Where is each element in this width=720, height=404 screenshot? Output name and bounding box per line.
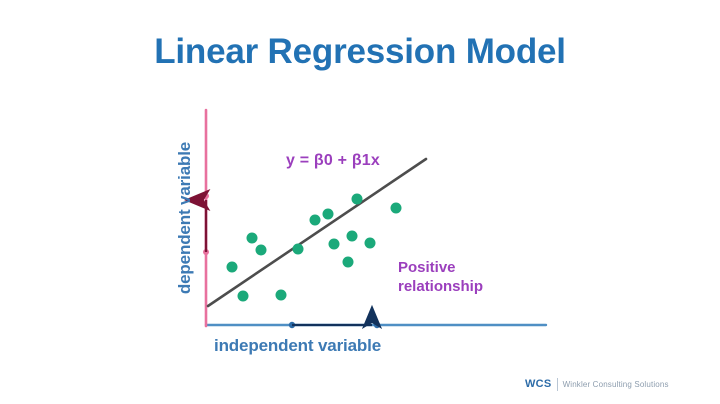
scatter-point <box>247 233 258 244</box>
relationship-note-line2: relationship <box>398 277 483 296</box>
y-axis-label-text: dependent variable <box>175 141 195 293</box>
slide-canvas: Linear Regression Model <box>0 0 720 404</box>
regression-line <box>208 159 426 306</box>
scatter-points <box>227 194 402 302</box>
scatter-point <box>365 238 376 249</box>
regression-equation-label: y = β0 + β1x <box>286 152 380 170</box>
scatter-point <box>227 262 238 273</box>
relationship-note-line1: Positive <box>398 258 483 277</box>
brand-logo: WCS Winkler Consulting Solutions <box>525 376 669 392</box>
scatter-point <box>310 215 321 226</box>
scatter-point <box>276 290 287 301</box>
y-axis-label: dependent variable <box>174 110 196 325</box>
scatter-point <box>256 245 267 256</box>
scatter-point <box>323 209 334 220</box>
scatter-point <box>352 194 363 205</box>
logo-mark: WCS <box>525 378 552 390</box>
logo-divider <box>557 378 558 391</box>
x-axis-label: independent variable <box>214 336 381 356</box>
relationship-note: Positive relationship <box>398 258 483 296</box>
regression-chart: dependent variable independent variable … <box>0 0 720 404</box>
scatter-point <box>391 203 402 214</box>
x-axis-marker-right <box>374 322 380 328</box>
scatter-point <box>329 239 340 250</box>
y-axis-marker-top <box>203 193 209 199</box>
scatter-point <box>347 231 358 242</box>
scatter-point <box>343 257 354 268</box>
scatter-point <box>238 291 249 302</box>
scatter-point <box>293 244 304 255</box>
logo-company-name: Winkler Consulting Solutions <box>563 380 669 389</box>
